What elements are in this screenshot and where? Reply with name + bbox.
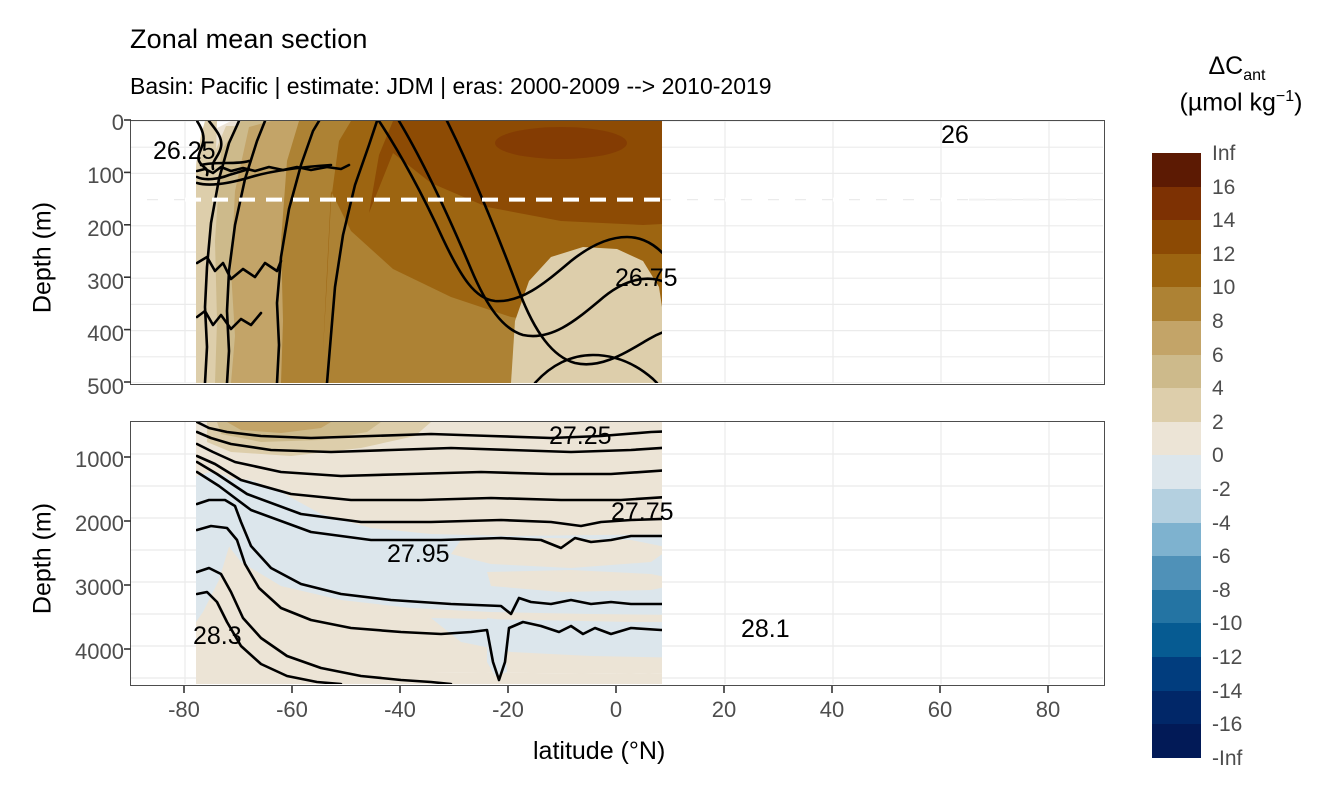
bottom-panel-plot-area: 27.25 27.75 27.95 28.3 28.1 (130, 421, 1105, 686)
x-axis-label: latitude (°N) (533, 737, 665, 766)
legend-swatch[interactable] (1152, 287, 1201, 321)
legend-tick-label: 8 (1212, 310, 1224, 334)
legend-tick-label: -14 (1212, 680, 1242, 704)
y-tick: 100 (87, 163, 124, 189)
top-panel-plot-area: 26.25 26 26.75 (130, 120, 1105, 385)
bottom-y-tickmarks (124, 419, 131, 689)
y-tick: 500 (87, 374, 124, 400)
legend-title-sub: ant (1243, 67, 1265, 84)
x-tick: -60 (257, 697, 327, 723)
legend-units-pre: (µmol kg (1180, 88, 1276, 116)
x-tick: -80 (149, 697, 219, 723)
legend-tick-label: 0 (1212, 444, 1224, 468)
legend-tick-label: -10 (1212, 612, 1242, 636)
legend-title: ΔCant (1152, 52, 1322, 85)
legend-swatch[interactable] (1152, 523, 1201, 557)
x-tick: 80 (1013, 697, 1083, 723)
contour-label-28-3: 28.3 (193, 622, 242, 650)
legend-units-post: ) (1294, 88, 1302, 116)
legend-tick-label: -2 (1212, 478, 1231, 502)
y-tick: 0 (112, 110, 124, 136)
legend-swatch[interactable] (1152, 153, 1201, 187)
legend-swatch[interactable] (1152, 321, 1201, 355)
legend-units: (µmol kg−1) (1146, 88, 1336, 117)
legend-tick-label: 4 (1212, 377, 1224, 401)
x-tick: 0 (581, 697, 651, 723)
legend-tick-label: -8 (1212, 579, 1231, 603)
legend-tick-label: -16 (1212, 713, 1242, 737)
y-tick: 4000 (75, 639, 124, 665)
legend-swatch[interactable] (1152, 623, 1201, 657)
y-tick: 400 (87, 321, 124, 347)
y-tick: 300 (87, 269, 124, 295)
legend-tick-label: 12 (1212, 243, 1235, 267)
legend-tick-label: 14 (1212, 209, 1235, 233)
legend-swatch[interactable] (1152, 187, 1201, 221)
x-tickmarks (130, 686, 1106, 694)
legend-swatch[interactable] (1152, 455, 1201, 489)
contour-label-27-25: 27.25 (549, 422, 612, 450)
legend-swatch[interactable] (1152, 657, 1201, 691)
legend-tick-label: -6 (1212, 545, 1231, 569)
legend-swatch[interactable] (1152, 254, 1201, 288)
x-tick: 40 (797, 697, 867, 723)
contour-label-26-25: 26.25 (153, 137, 216, 165)
contour-label-27-95: 27.95 (387, 540, 450, 568)
legend-tick-label: -12 (1212, 646, 1242, 670)
legend-tick-label: 6 (1212, 344, 1224, 368)
legend-swatch[interactable] (1152, 489, 1201, 523)
legend-swatch[interactable] (1152, 220, 1201, 254)
page-title: Zonal mean section (130, 24, 367, 55)
x-tick: 20 (689, 697, 759, 723)
x-tick: -40 (365, 697, 435, 723)
legend-swatch[interactable] (1152, 691, 1201, 725)
contour-label-26-75: 26.75 (615, 264, 678, 292)
legend-tick-label: 2 (1212, 411, 1224, 435)
bottom-y-axis-label: Depth (m) (29, 479, 58, 639)
top-y-tickmarks (124, 118, 131, 388)
legend-units-sup: −1 (1276, 88, 1294, 105)
legend-tick-label: 16 (1212, 176, 1235, 200)
y-tick: 2000 (75, 511, 124, 537)
contour-label-28-1: 28.1 (741, 615, 790, 643)
y-tick: 3000 (75, 575, 124, 601)
page-subtitle: Basin: Pacific | estimate: JDM | eras: 2… (130, 73, 772, 100)
legend-swatch[interactable] (1152, 556, 1201, 590)
legend-tick-label: -4 (1212, 512, 1231, 536)
legend-tick-label: -Inf (1212, 747, 1242, 771)
contour-label-26: 26 (941, 121, 969, 149)
y-tick: 1000 (75, 447, 124, 473)
legend-swatch[interactable] (1152, 388, 1201, 422)
legend-swatch[interactable] (1152, 355, 1201, 389)
legend-swatch[interactable] (1152, 590, 1201, 624)
contour-label-27-75: 27.75 (611, 498, 674, 526)
y-tick: 200 (87, 216, 124, 242)
top-y-axis-label: Depth (m) (29, 178, 58, 338)
legend-tick-label: Inf (1212, 142, 1235, 166)
legend-title-main: ΔC (1208, 52, 1243, 80)
x-tick: -20 (473, 697, 543, 723)
legend-swatch[interactable] (1152, 422, 1201, 456)
x-tick: 60 (905, 697, 975, 723)
legend-swatch[interactable] (1152, 724, 1201, 758)
legend-tick-label: 10 (1212, 276, 1235, 300)
